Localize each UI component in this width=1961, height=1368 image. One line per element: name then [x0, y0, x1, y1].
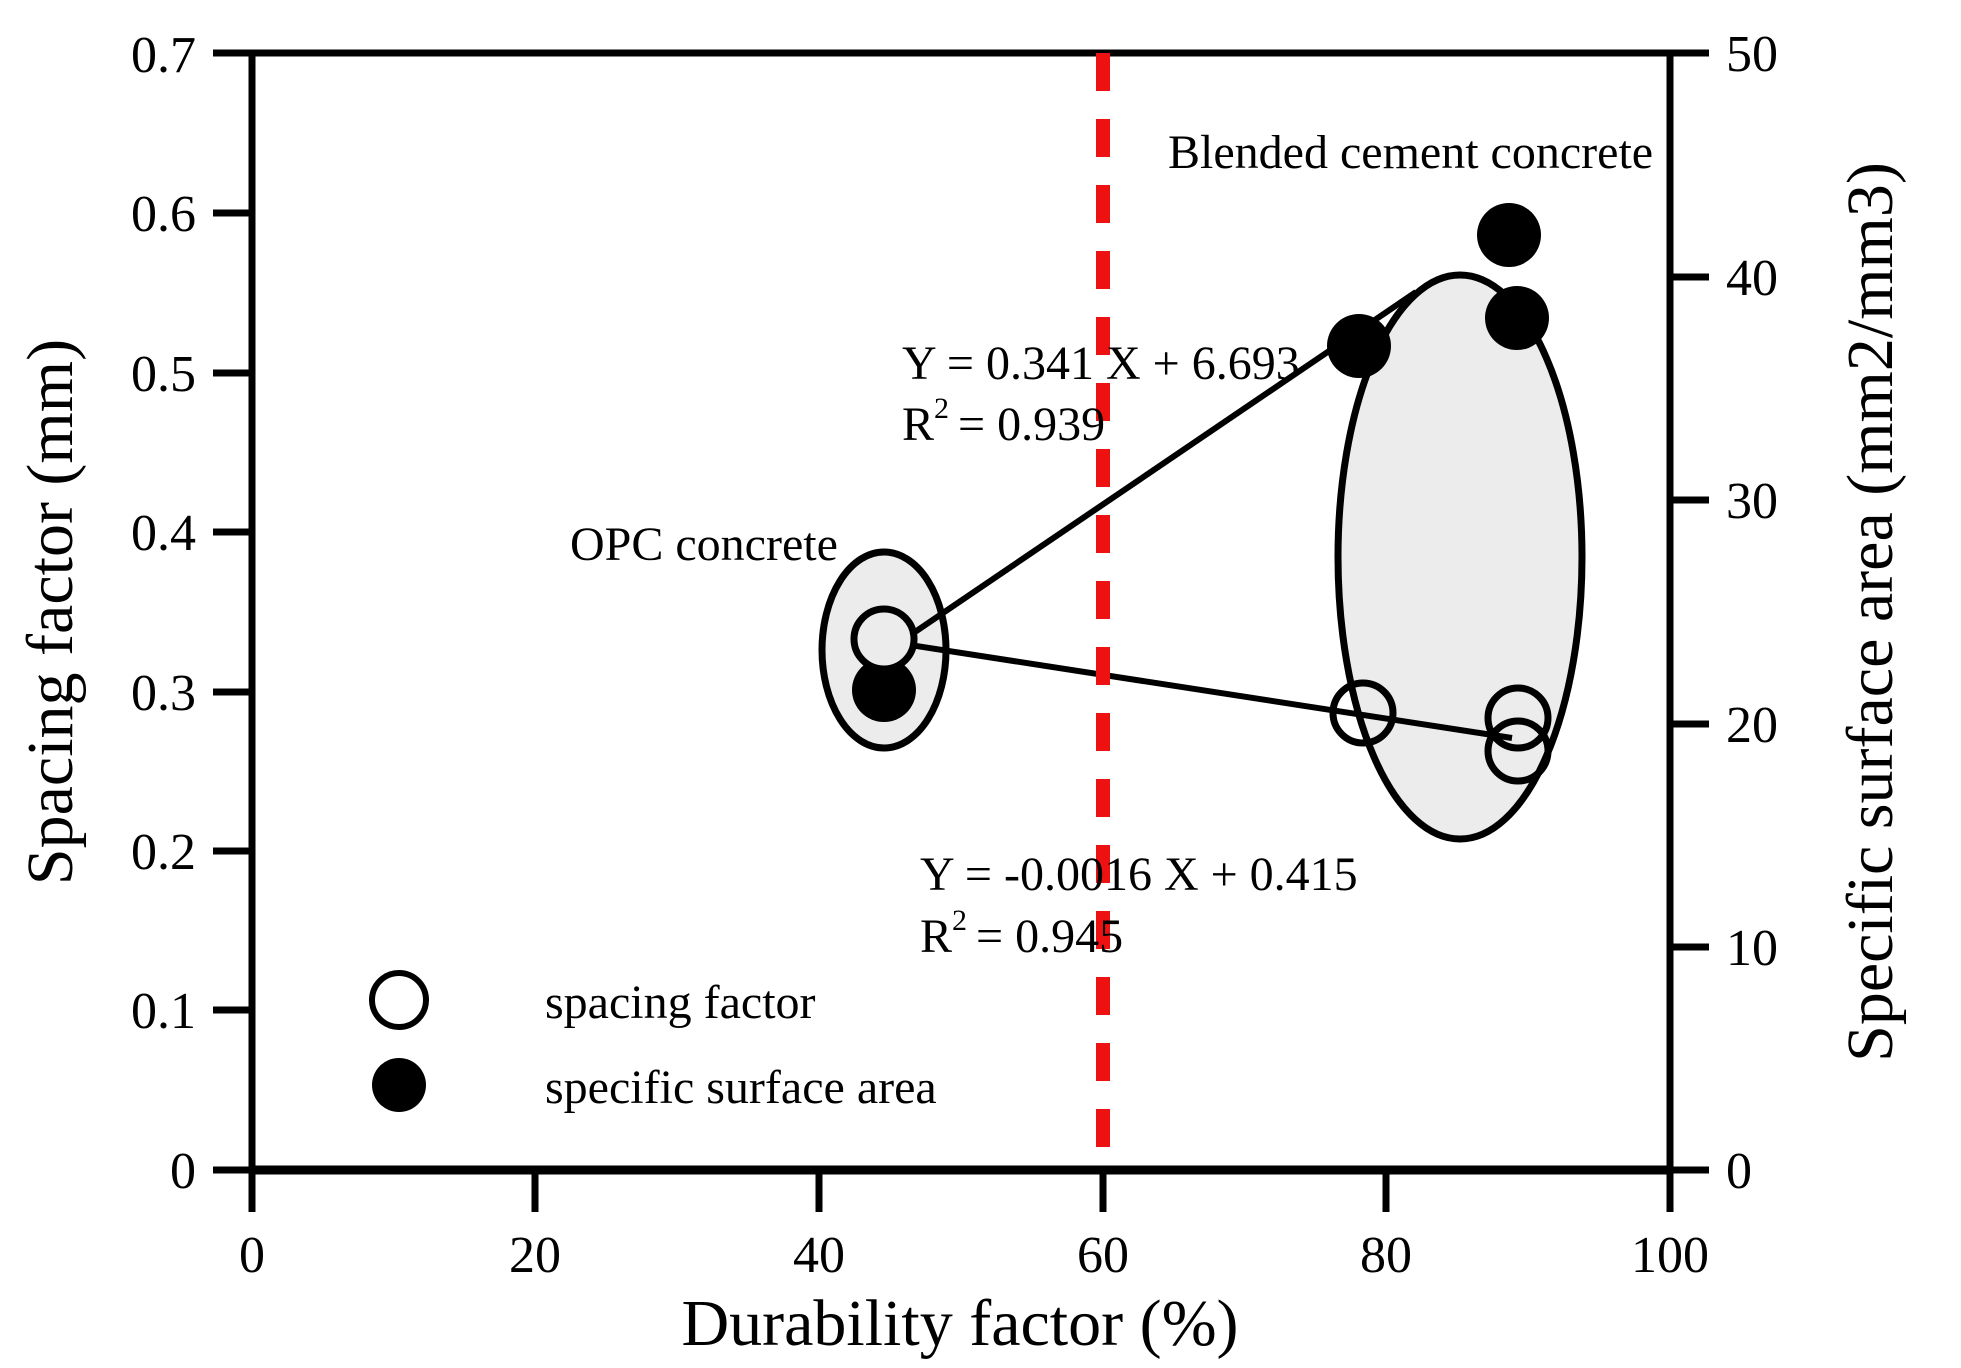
legend-filled-circle-icon — [372, 1058, 426, 1112]
y-axis-right-tick-labels: 0 10 20 30 40 50 — [1726, 26, 1778, 1200]
x-tick-label-0: 0 — [239, 1227, 265, 1284]
x-tick-label-60: 60 — [1077, 1227, 1129, 1284]
equation-text-ssa: Y = 0.341 X + 6.693 — [902, 337, 1300, 390]
y-tick-label-0.3: 0.3 — [131, 665, 196, 722]
r2-exponent-sf: 2 — [952, 904, 967, 937]
y-tick-label-0.6: 0.6 — [131, 186, 196, 243]
equation-text-sf: Y = -0.0016 X + 0.415 — [920, 848, 1358, 901]
r2-label-sf: R — [920, 910, 952, 963]
chart-legend: spacing factor specific surface area — [372, 973, 937, 1114]
y-axis-right-title: Specific surface area (mm2/mm3) — [1834, 162, 1907, 1062]
x-axis-tick-labels: 0 20 40 60 80 100 — [239, 1227, 1709, 1284]
equation-annotation-spacing-factor: Y = -0.0016 X + 0.415 R 2 = 0.945 — [920, 848, 1358, 963]
x-tick-label-100: 100 — [1631, 1227, 1709, 1284]
r2-label-ssa: R — [902, 398, 934, 451]
data-point-filled-blended-1 — [1327, 314, 1391, 378]
group-label-opc-concrete: OPC concrete — [570, 518, 838, 571]
legend-item-specific-surface-area[interactable]: specific surface area — [372, 1058, 937, 1114]
legend-item-spacing-factor[interactable]: spacing factor — [372, 973, 816, 1029]
x-axis-title: Durability factor (%) — [681, 1287, 1238, 1360]
y-tick-label-0.2: 0.2 — [131, 824, 196, 881]
y-tick-label-0.5: 0.5 — [131, 346, 196, 403]
y-axis-left-tick-labels: 0 0.1 0.2 0.3 0.4 0.5 0.6 0.7 — [131, 27, 196, 1200]
r2-exponent-ssa: 2 — [934, 392, 949, 425]
legend-label-specific-surface-area: specific surface area — [545, 1061, 937, 1114]
y2-tick-label-30: 30 — [1726, 473, 1778, 530]
y2-tick-label-20: 20 — [1726, 697, 1778, 754]
data-point-filled-blended-3 — [1485, 286, 1549, 350]
scatter-plot-svg: 0 0.1 0.2 0.3 0.4 0.5 0.6 0.7 0 10 20 30… — [0, 0, 1961, 1368]
group-label-blended-cement-concrete: Blended cement concrete — [1168, 126, 1653, 179]
x-tick-label-80: 80 — [1360, 1227, 1412, 1284]
x-axis-ticks — [252, 1170, 1670, 1212]
y2-tick-label-50: 50 — [1726, 26, 1778, 83]
r2-value-ssa: = 0.939 — [958, 398, 1105, 451]
r2-value-sf: = 0.945 — [976, 910, 1123, 963]
legend-open-circle-icon — [372, 973, 426, 1027]
y-tick-label-0.7: 0.7 — [131, 27, 196, 84]
x-tick-label-20: 20 — [509, 1227, 561, 1284]
y-axis-left-ticks — [213, 53, 252, 1170]
y-axis-right-ticks — [1670, 53, 1709, 1170]
y2-tick-label-40: 40 — [1726, 250, 1778, 307]
y-tick-label-0: 0 — [170, 1143, 196, 1200]
y-tick-label-0.4: 0.4 — [131, 505, 196, 562]
y2-tick-label-0: 0 — [1726, 1143, 1752, 1200]
y-axis-left-title: Spacing factor (mm) — [14, 339, 87, 885]
x-tick-label-40: 40 — [793, 1227, 845, 1284]
legend-label-spacing-factor: spacing factor — [545, 976, 816, 1029]
y2-tick-label-10: 10 — [1726, 920, 1778, 977]
chart-figure: 0 0.1 0.2 0.3 0.4 0.5 0.6 0.7 0 10 20 30… — [0, 0, 1961, 1368]
data-point-filled-blended-2 — [1477, 203, 1541, 267]
data-point-open-opc-1 — [854, 609, 914, 669]
y-tick-label-0.1: 0.1 — [131, 983, 196, 1040]
